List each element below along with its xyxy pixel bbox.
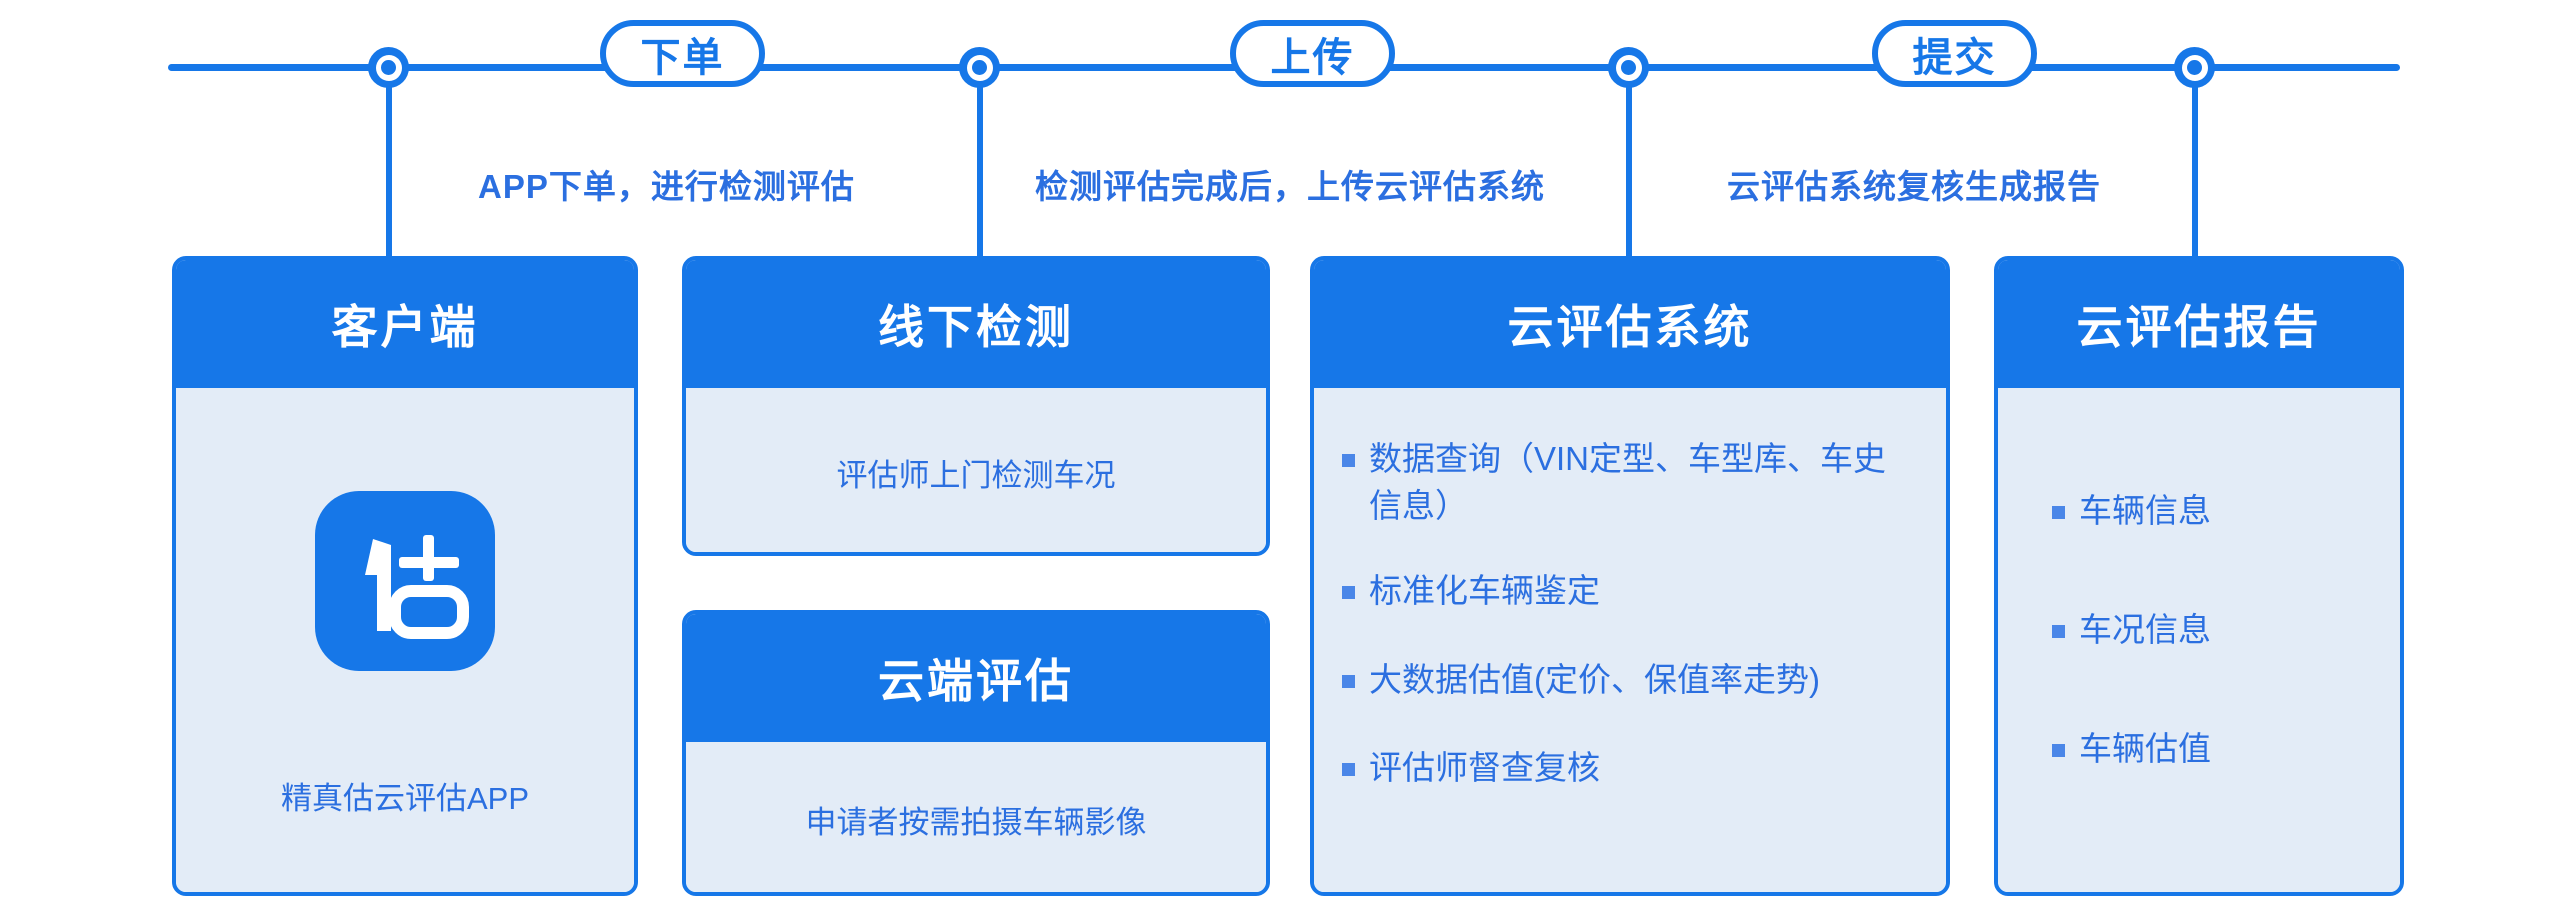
node-ring [967, 55, 993, 81]
card-cloud-inspection[interactable]: 云端评估 申请者按需拍摄车辆影像 [682, 610, 1270, 896]
list-item[interactable]: 车辆估值 [2052, 726, 2376, 773]
app-icon-container [176, 388, 634, 773]
list-item[interactable]: 评估师督查复核 [1342, 745, 1916, 792]
bullet-square-icon [1342, 586, 1355, 599]
list-item[interactable]: 车辆信息 [2052, 488, 2376, 535]
flow-diagram: 下单 上传 提交 APP下单，进行检测评估 检测评估完成后，上传云评估系统 云评… [0, 0, 2568, 916]
timeline-node-2[interactable] [959, 47, 1000, 88]
node-dot [2187, 60, 2202, 75]
timeline-node-1[interactable] [368, 47, 409, 88]
stage-pill-place-order[interactable]: 下单 [600, 20, 765, 87]
card-note: 申请者按需拍摄车辆影像 [686, 797, 1266, 842]
stage-pill-submit[interactable]: 提交 [1872, 20, 2037, 87]
card-title: 云端评估 [686, 614, 1266, 742]
card-title: 线下检测 [686, 260, 1266, 388]
card-title: 云评估报告 [1998, 260, 2400, 388]
bullet-list: 数据查询（VIN定型、车型库、车史信息） 标准化车辆鉴定 大数据估值(定价、保值… [1342, 436, 1916, 792]
list-item-label: 大数据估值(定价、保值率走势) [1369, 657, 1916, 704]
step-description-1: APP下单，进行检测评估 [478, 160, 855, 208]
node-dot [381, 60, 396, 75]
stage-pill-label: 提交 [1913, 25, 1997, 83]
bullet-square-icon [1342, 763, 1355, 776]
list-item-label: 车辆信息 [2079, 488, 2376, 535]
list-item[interactable]: 数据查询（VIN定型、车型库、车史信息） [1342, 436, 1916, 530]
list-item[interactable]: 车况信息 [2052, 607, 2376, 654]
list-item-label: 车况信息 [2079, 607, 2376, 654]
card-title: 云评估系统 [1314, 260, 1946, 388]
card-title: 客户端 [176, 260, 634, 388]
bullet-square-icon [1342, 675, 1355, 688]
gu-app-icon [315, 491, 495, 671]
card-note: 评估师上门检测车况 [686, 450, 1266, 495]
card-cloud-system[interactable]: 云评估系统 数据查询（VIN定型、车型库、车史信息） 标准化车辆鉴定 大数据估值… [1310, 256, 1950, 896]
connector-line-2 [977, 84, 983, 256]
list-item-label: 标准化车辆鉴定 [1369, 568, 1916, 615]
connector-line-1 [386, 84, 392, 256]
node-dot [1621, 60, 1636, 75]
stage-pill-upload[interactable]: 上传 [1230, 20, 1395, 87]
timeline-node-3[interactable] [1608, 47, 1649, 88]
step-description-2: 检测评估完成后，上传云评估系统 [1035, 160, 1545, 208]
node-ring [376, 55, 402, 81]
bullet-square-icon [2052, 625, 2065, 638]
timeline-node-4[interactable] [2174, 47, 2215, 88]
card-cloud-report[interactable]: 云评估报告 车辆信息 车况信息 车辆估值 [1994, 256, 2404, 896]
connector-line-4 [2192, 84, 2198, 256]
list-item[interactable]: 标准化车辆鉴定 [1342, 568, 1916, 615]
list-item-label: 评估师督查复核 [1369, 745, 1916, 792]
process-timeline: 下单 上传 提交 APP下单，进行检测评估 检测评估完成后，上传云评估系统 云评… [0, 0, 2568, 150]
bullet-square-icon [2052, 506, 2065, 519]
node-ring [2182, 55, 2208, 81]
list-item-label: 数据查询（VIN定型、车型库、车史信息） [1369, 436, 1916, 530]
node-dot [972, 60, 987, 75]
node-ring [1616, 55, 1642, 81]
bullet-list: 车辆信息 车况信息 车辆估值 [2052, 488, 2376, 773]
connector-line-3 [1626, 84, 1632, 256]
stage-pill-label: 下单 [641, 25, 725, 83]
step-description-3: 云评估系统复核生成报告 [1727, 160, 2101, 208]
bullet-square-icon [1342, 454, 1355, 467]
list-item[interactable]: 大数据估值(定价、保值率走势) [1342, 657, 1916, 704]
bullet-square-icon [2052, 744, 2065, 757]
card-caption: 精真估云评估APP [176, 773, 634, 818]
stage-pill-label: 上传 [1271, 25, 1355, 83]
list-item-label: 车辆估值 [2079, 726, 2376, 773]
card-offline-inspection[interactable]: 线下检测 评估师上门检测车况 [682, 256, 1270, 556]
card-client[interactable]: 客户端 精真估云评估APP [172, 256, 638, 896]
